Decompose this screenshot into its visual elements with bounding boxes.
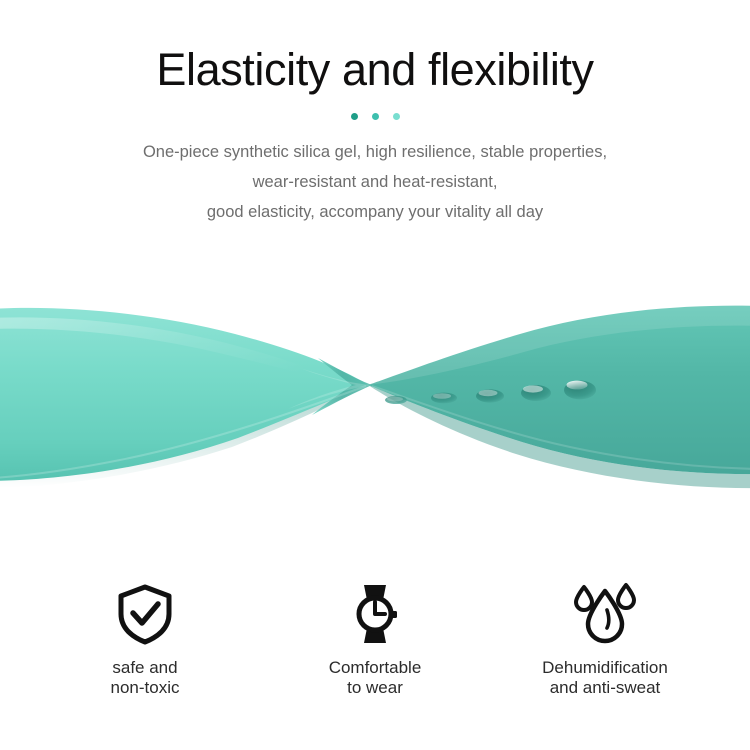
dot-1-icon <box>351 113 358 120</box>
band-hole-3 <box>476 389 504 402</box>
feature-label-line-1: Comfortable <box>329 658 422 678</box>
feature-label-line-1: Dehumidification <box>542 658 668 678</box>
feature-label-line-1: safe and <box>111 658 180 678</box>
wristwatch-icon <box>343 580 407 648</box>
feature-safe-non-toxic-label: safe and non-toxic <box>111 658 180 698</box>
subtitle-line-3: good elasticity, accompany your vitality… <box>0 197 750 227</box>
product-image <box>0 282 750 507</box>
band-hole-1 <box>385 396 407 404</box>
feature-dehumidification-label: Dehumidification and anti-sweat <box>542 658 668 698</box>
dot-3-icon <box>393 113 400 120</box>
feature-label-line-2: and anti-sweat <box>542 678 668 698</box>
page-title: Elasticity and flexibility <box>0 0 750 96</box>
feature-label-line-2: to wear <box>329 678 422 698</box>
dot-2-icon <box>372 113 379 120</box>
feature-safe-non-toxic: safe and non-toxic <box>30 580 260 698</box>
subtitle-line-2: wear-resistant and heat-resistant, <box>0 167 750 197</box>
feature-label-line-2: non-toxic <box>111 678 180 698</box>
product-illustration <box>0 282 750 507</box>
subtitle-line-1: One-piece synthetic silica gel, high res… <box>0 137 750 167</box>
feature-dehumidification: Dehumidification and anti-sweat <box>490 580 720 698</box>
feature-comfortable-to-wear: Comfortable to wear <box>260 580 490 698</box>
shield-check-icon <box>113 580 177 648</box>
band-hole-4 <box>521 385 551 401</box>
header-section: Elasticity and flexibility One-piece syn… <box>0 0 750 227</box>
band-hole-5 <box>564 381 596 400</box>
subtitle-block: One-piece synthetic silica gel, high res… <box>0 137 750 227</box>
water-droplets-icon <box>571 580 639 648</box>
feature-comfortable-to-wear-label: Comfortable to wear <box>329 658 422 698</box>
dot-separator <box>0 113 750 121</box>
features-section: safe and non-toxic Comfortable to wear <box>0 580 750 698</box>
band-hole-2 <box>431 393 457 404</box>
